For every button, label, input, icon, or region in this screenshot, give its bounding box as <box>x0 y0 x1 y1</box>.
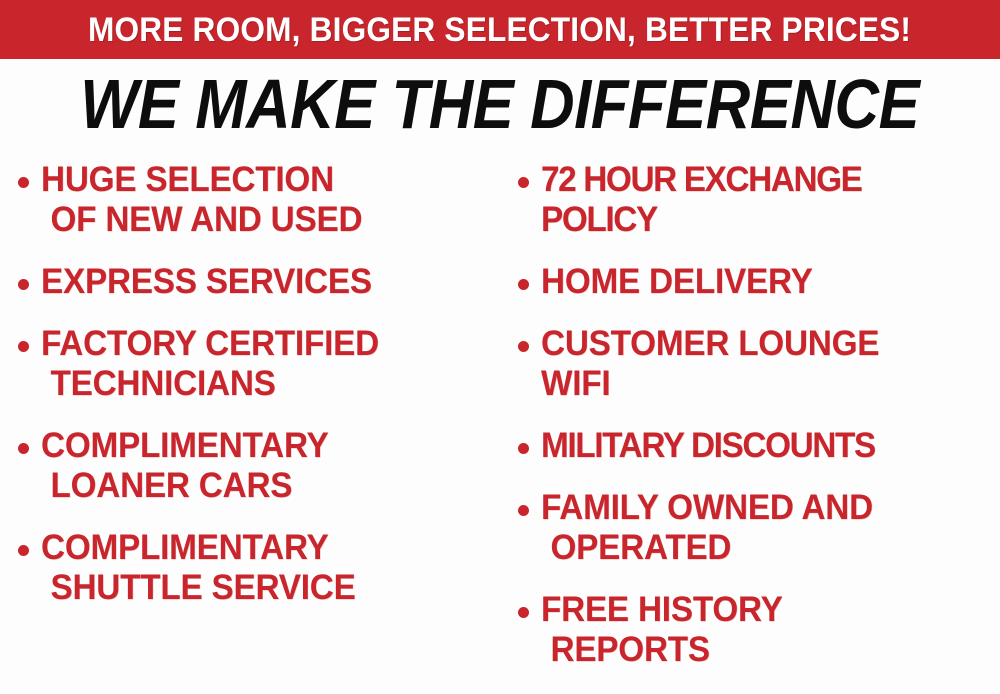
bullet-dot-icon <box>18 177 29 188</box>
bullet-dot-icon <box>18 279 29 290</box>
list-item-line2: LOANER CARS <box>41 466 329 506</box>
list-item-label: FREE HISTORYREPORTS <box>541 590 783 670</box>
promotional-poster: MORE ROOM, BIGGER SELECTION, BETTER PRIC… <box>0 0 1000 694</box>
list-item-label: FACTORY CERTIFIEDTECHNICIANS <box>41 324 379 404</box>
list-item-line1: FREE HISTORY <box>541 590 783 629</box>
list-item: CUSTOMER LOUNGEWIFI <box>518 324 1000 404</box>
list-item-line2: OF NEW AND USED <box>41 200 362 240</box>
list-item-label: COMPLIMENTARYLOANER CARS <box>41 426 329 506</box>
list-item-line1: FACTORY CERTIFIED <box>41 324 379 363</box>
benefits-column-right: 72 HOUR EXCHANGEPOLICY HOME DELIVERY CUS… <box>500 160 1000 694</box>
benefits-column-left: HUGE SELECTIONOF NEW AND USED EXPRESS SE… <box>0 160 500 694</box>
list-item-label: HUGE SELECTIONOF NEW AND USED <box>41 160 362 240</box>
list-item-line1: EXPRESS SERVICES <box>41 262 372 301</box>
list-item-line1: 72 HOUR EXCHANGE <box>541 160 862 199</box>
list-item-line1: HUGE SELECTION <box>41 160 334 199</box>
list-item-line1: COMPLIMENTARY <box>41 528 329 567</box>
list-item: HOME DELIVERY <box>518 262 1000 302</box>
list-item: FACTORY CERTIFIEDTECHNICIANS <box>18 324 500 404</box>
list-item-line2: POLICY <box>541 200 862 240</box>
bullet-dot-icon <box>518 279 529 290</box>
list-item-line1: HOME DELIVERY <box>541 262 813 301</box>
list-item-label: FAMILY OWNED ANDOPERATED <box>541 488 873 568</box>
list-item-line2: REPORTS <box>541 630 783 670</box>
list-item-label: EXPRESS SERVICES <box>41 262 372 302</box>
bullet-dot-icon <box>518 607 529 618</box>
bullet-dot-icon <box>518 341 529 352</box>
list-item: HUGE SELECTIONOF NEW AND USED <box>18 160 500 240</box>
list-item-label: COMPLIMENTARYSHUTTLE SERVICE <box>41 528 356 608</box>
banner-headline-text: MORE ROOM, BIGGER SELECTION, BETTER PRIC… <box>88 13 911 47</box>
list-item: FREE HISTORYREPORTS <box>518 590 1000 670</box>
list-item-line1: MILITARY DISCOUNTS <box>541 426 875 465</box>
list-item-line1: FAMILY OWNED AND <box>541 488 873 527</box>
list-item-label: HOME DELIVERY <box>541 262 813 302</box>
bullet-dot-icon <box>18 341 29 352</box>
list-item-line1: COMPLIMENTARY <box>41 426 329 465</box>
bullet-dot-icon <box>18 545 29 556</box>
list-item: MILITARY DISCOUNTS <box>518 426 1000 466</box>
list-item-line1: CUSTOMER LOUNGE <box>541 324 879 363</box>
list-item: FAMILY OWNED ANDOPERATED <box>518 488 1000 568</box>
list-item: 72 HOUR EXCHANGEPOLICY <box>518 160 1000 240</box>
bullet-dot-icon <box>518 177 529 188</box>
list-item-line2: TECHNICIANS <box>41 364 379 404</box>
headline-text: WE MAKE THE DIFFERENCE <box>80 67 919 141</box>
list-item-label: MILITARY DISCOUNTS <box>541 426 875 466</box>
list-item-line2: OPERATED <box>541 528 873 568</box>
bullet-dot-icon <box>518 443 529 454</box>
bullet-dot-icon <box>518 505 529 516</box>
list-item-line2: SHUTTLE SERVICE <box>41 568 356 608</box>
bullet-dot-icon <box>18 443 29 454</box>
list-item-label: CUSTOMER LOUNGEWIFI <box>541 324 879 404</box>
list-item: COMPLIMENTARYSHUTTLE SERVICE <box>18 528 500 608</box>
benefits-columns: HUGE SELECTIONOF NEW AND USED EXPRESS SE… <box>0 160 1000 694</box>
list-item-label: 72 HOUR EXCHANGEPOLICY <box>541 160 862 240</box>
main-headline: WE MAKE THE DIFFERENCE <box>0 67 1000 141</box>
list-item: COMPLIMENTARYLOANER CARS <box>18 426 500 506</box>
list-item-line2: WIFI <box>541 364 879 404</box>
list-item: EXPRESS SERVICES <box>18 262 500 302</box>
top-banner: MORE ROOM, BIGGER SELECTION, BETTER PRIC… <box>0 0 1000 59</box>
